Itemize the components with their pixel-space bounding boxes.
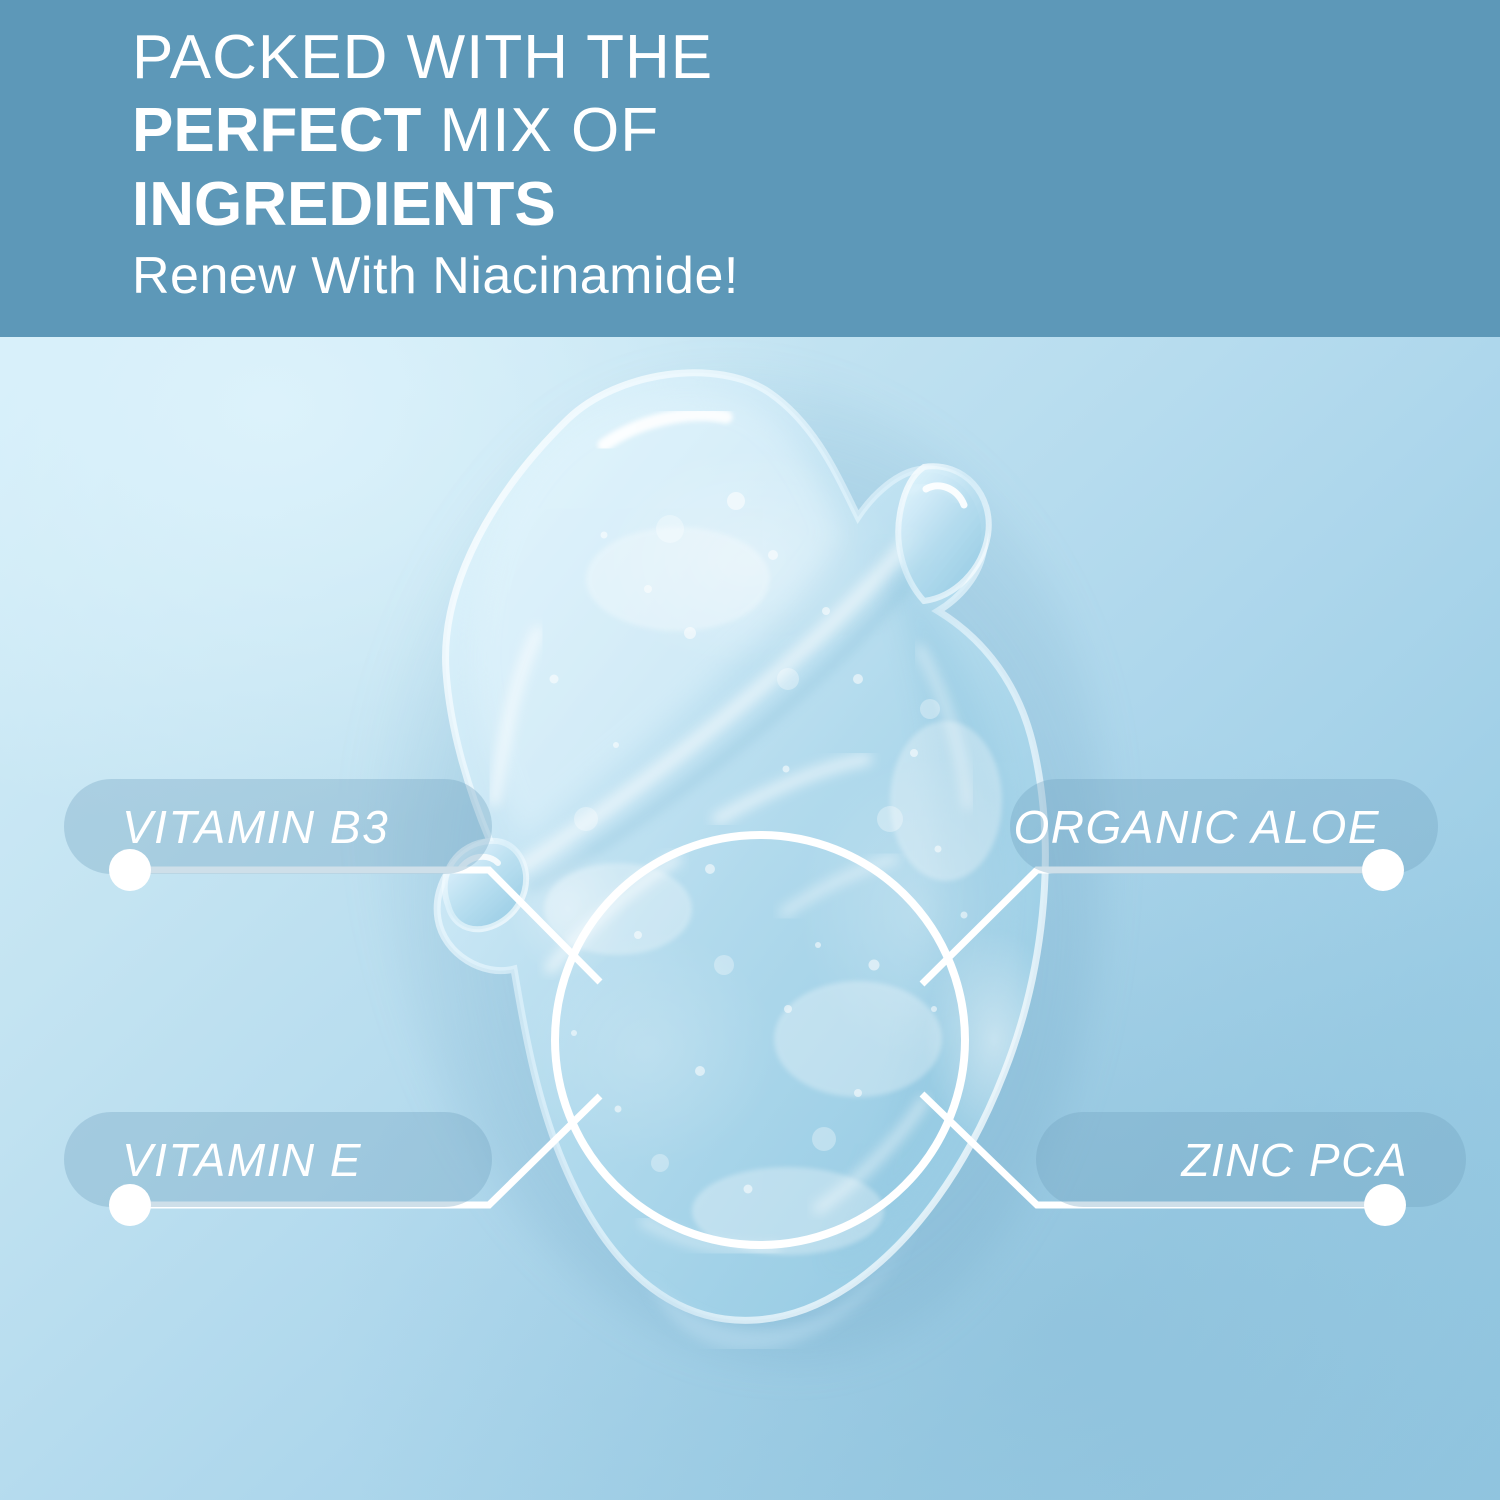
callout-dot-organic-aloe xyxy=(1362,849,1404,891)
gel-swatch-image xyxy=(0,337,1500,1500)
headline-subtitle: Renew With Niacinamide! xyxy=(132,244,1500,308)
headline-line-2-rest: MIX OF xyxy=(421,96,659,165)
infographic-canvas: PACKED WITH THE PERFECT MIX OF INGREDIEN… xyxy=(0,0,1500,1500)
callout-label-text: VITAMIN E xyxy=(64,1133,362,1187)
callout-dot-zinc-pca xyxy=(1364,1184,1406,1226)
callout-label-text: VITAMIN B3 xyxy=(64,800,389,854)
callout-label-text: ORGANIC ALOE xyxy=(1014,800,1438,854)
header-banner: PACKED WITH THE PERFECT MIX OF INGREDIEN… xyxy=(0,0,1500,337)
callout-dot-vitamin-b3 xyxy=(109,849,151,891)
headline-line-2: PERFECT MIX OF xyxy=(132,94,1500,168)
headline-emphasis: PERFECT xyxy=(132,96,421,165)
callout-dot-vitamin-e xyxy=(109,1184,151,1226)
headline-line-3: INGREDIENTS xyxy=(132,168,1500,242)
headline-line-1: PACKED WITH THE xyxy=(132,22,1500,94)
callout-label-text: ZINC PCA xyxy=(1181,1133,1466,1187)
